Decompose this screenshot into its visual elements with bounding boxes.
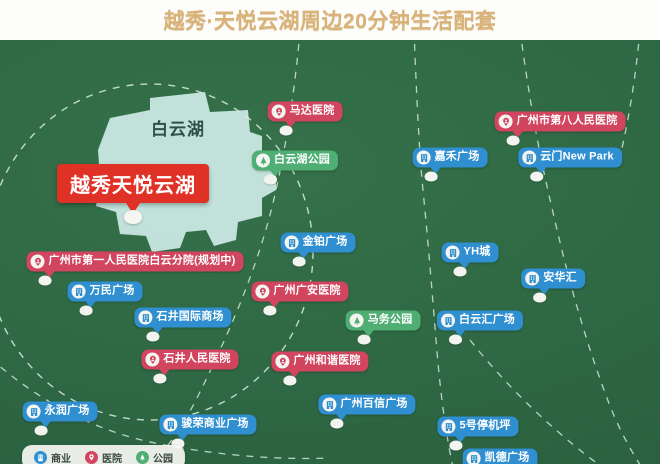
- poi-pill[interactable]: 云门New Park: [518, 148, 622, 168]
- poi-pill[interactable]: 骏荣商业广场: [159, 415, 256, 435]
- poi-label: 白云湖公园: [274, 154, 330, 168]
- poi-label: 广州市第一人民医院白云分院(规划中): [49, 255, 236, 269]
- map-poster: 越秀·天悦云湖周边20分钟生活配套: [0, 0, 660, 464]
- legend-label-mall: 商业: [51, 450, 71, 464]
- poi-marker-base: [425, 171, 438, 181]
- poi-pill[interactable]: 永润广场: [23, 402, 98, 422]
- poi-marker-base: [533, 292, 546, 302]
- poi-marker-base: [454, 266, 467, 276]
- building-icon: [27, 405, 41, 419]
- poi-pill[interactable]: 嘉禾广场: [413, 148, 488, 168]
- poi-pill[interactable]: YH城: [442, 243, 499, 263]
- poi-marker-base: [358, 334, 371, 344]
- building-icon: [322, 398, 336, 412]
- poi-marker[interactable]: YH城: [442, 243, 499, 264]
- poi-marker-base: [39, 275, 52, 285]
- poi-label: 云门New Park: [540, 151, 614, 165]
- poi-marker[interactable]: 金铂广场: [281, 233, 356, 254]
- page-title: 越秀·天悦云湖周边20分钟生活配套: [164, 5, 497, 35]
- poi-label: 骏荣商业广场: [181, 418, 248, 432]
- poi-marker[interactable]: 广州广安医院: [251, 282, 348, 303]
- building-icon: [163, 418, 177, 432]
- poi-label: 广州广安医院: [273, 285, 340, 299]
- poi-marker[interactable]: 白云湖公园: [252, 151, 338, 172]
- poi-marker[interactable]: 5号停机坪: [437, 417, 518, 438]
- poi-marker[interactable]: 万民广场: [68, 282, 143, 303]
- poi-label: 马务公园: [368, 314, 413, 328]
- poi-pill[interactable]: 白云汇广场: [437, 311, 523, 331]
- building-icon: [441, 420, 455, 434]
- project-name-label: 越秀天悦云湖: [57, 164, 209, 203]
- poi-label: 马达医院: [290, 105, 335, 119]
- park-tree-icon: [256, 154, 270, 168]
- poi-pill[interactable]: 马务公园: [346, 311, 421, 331]
- poi-marker-base: [263, 305, 276, 315]
- building-icon: [467, 452, 481, 464]
- poi-pill[interactable]: 金铂广场: [281, 233, 356, 253]
- poi-label: 石井国际商场: [156, 311, 223, 325]
- poi-label: 凯德广场: [485, 452, 530, 464]
- poi-pill[interactable]: 广州和谐医院: [271, 352, 368, 372]
- poi-marker[interactable]: 广州市第一人民医院白云分院(规划中): [27, 252, 244, 273]
- legend-label-park: 公园: [153, 450, 173, 464]
- building-icon: [446, 246, 460, 260]
- poi-marker[interactable]: 石井国际商场: [134, 308, 231, 329]
- poi-label: 广州市第八人民医院: [517, 115, 618, 129]
- legend-item-mall: 商业: [34, 450, 71, 464]
- poi-label: 白云汇广场: [459, 314, 515, 328]
- poi-label: 5号停机坪: [459, 420, 510, 434]
- legend-label-hospital: 医院: [102, 450, 122, 464]
- poi-marker[interactable]: 骏荣商业广场: [159, 415, 256, 436]
- building-icon: [285, 236, 299, 250]
- poi-marker[interactable]: 广州市第八人民医院: [495, 112, 626, 133]
- poi-label: 广州百信广场: [340, 398, 407, 412]
- poi-pill[interactable]: 石井国际商场: [134, 308, 231, 328]
- building-icon: [441, 314, 455, 328]
- poi-label: 金铂广场: [303, 236, 348, 250]
- poi-pill[interactable]: 广州广安医院: [251, 282, 348, 302]
- poi-marker-base: [449, 334, 462, 344]
- project-marker[interactable]: 越秀天悦云湖: [57, 164, 209, 203]
- poi-marker[interactable]: 白云汇广场: [437, 311, 523, 332]
- poi-marker-base: [280, 125, 293, 135]
- poi-pill[interactable]: 凯德广场: [463, 449, 538, 464]
- hospital-pin-icon: [31, 255, 45, 269]
- poi-marker[interactable]: 广州和谐医院: [271, 352, 368, 373]
- poi-pill[interactable]: 石井人民医院: [141, 350, 238, 370]
- poi-marker-base: [264, 174, 277, 184]
- poi-pill[interactable]: 广州市第八人民医院: [495, 112, 626, 132]
- poi-marker[interactable]: 安华汇: [521, 269, 585, 290]
- poi-label: 万民广场: [90, 285, 135, 299]
- poi-marker[interactable]: 马达医院: [268, 102, 343, 123]
- poi-pill[interactable]: 万民广场: [68, 282, 143, 302]
- project-marker-base: [124, 210, 142, 224]
- poi-marker-base: [507, 135, 520, 145]
- building-icon: [72, 285, 86, 299]
- building-icon: [525, 272, 539, 286]
- poi-marker[interactable]: 石井人民医院: [141, 350, 238, 371]
- legend-item-park: 公园: [136, 450, 173, 464]
- poi-marker-base: [80, 305, 93, 315]
- poi-pill[interactable]: 安华汇: [521, 269, 585, 289]
- poi-marker[interactable]: 凯德广场: [463, 449, 538, 464]
- poi-marker-base: [283, 375, 296, 385]
- lake-name-label: 白云湖: [151, 115, 205, 140]
- poi-marker-base: [146, 331, 159, 341]
- hospital-pin-icon: [275, 355, 289, 369]
- poi-label: 永润广场: [45, 405, 90, 419]
- poi-marker[interactable]: 马务公园: [346, 311, 421, 332]
- poi-marker-base: [35, 425, 48, 435]
- poi-marker[interactable]: 永润广场: [23, 402, 98, 423]
- poi-marker-base: [153, 373, 166, 383]
- poi-label: 嘉禾广场: [435, 151, 480, 165]
- hospital-pin-icon: [145, 353, 159, 367]
- building-icon: [522, 151, 536, 165]
- poi-pill[interactable]: 白云湖公园: [252, 151, 338, 171]
- legend-item-hospital: 医院: [85, 450, 122, 464]
- poi-label: YH城: [464, 246, 491, 260]
- poi-label: 石井人民医院: [163, 353, 230, 367]
- hospital-pin-icon: [255, 285, 269, 299]
- poster-title-bar: 越秀·天悦云湖周边20分钟生活配套: [0, 0, 660, 40]
- park-tree-icon: [350, 314, 364, 328]
- building-icon: [138, 311, 152, 325]
- poi-marker[interactable]: 广州百信广场: [318, 395, 415, 416]
- poi-marker[interactable]: 云门New Park: [518, 148, 622, 169]
- hospital-pin-icon: [272, 105, 286, 119]
- poi-pill[interactable]: 广州市第一人民医院白云分院(规划中): [27, 252, 244, 272]
- poi-pill[interactable]: 5号停机坪: [437, 417, 518, 437]
- poi-marker-base: [530, 171, 543, 181]
- poi-pill[interactable]: 马达医院: [268, 102, 343, 122]
- hospital-pin-icon: [85, 451, 98, 464]
- hospital-pin-icon: [499, 115, 513, 129]
- map-legend: 商业 医院 公园: [22, 445, 185, 464]
- poi-label: 安华汇: [543, 272, 577, 286]
- map-canvas[interactable]: 白云湖 越秀天悦云湖 马达医院广州市第八人民医院白云湖公园嘉禾广场云门New P…: [0, 40, 660, 464]
- building-icon: [34, 451, 47, 464]
- poi-marker-base: [330, 418, 343, 428]
- park-tree-icon: [136, 451, 149, 464]
- poi-marker[interactable]: 嘉禾广场: [413, 148, 488, 169]
- building-icon: [417, 151, 431, 165]
- poi-marker-base: [449, 440, 462, 450]
- poi-marker-base: [293, 256, 306, 266]
- poi-pill[interactable]: 广州百信广场: [318, 395, 415, 415]
- poi-label: 广州和谐医院: [293, 355, 360, 369]
